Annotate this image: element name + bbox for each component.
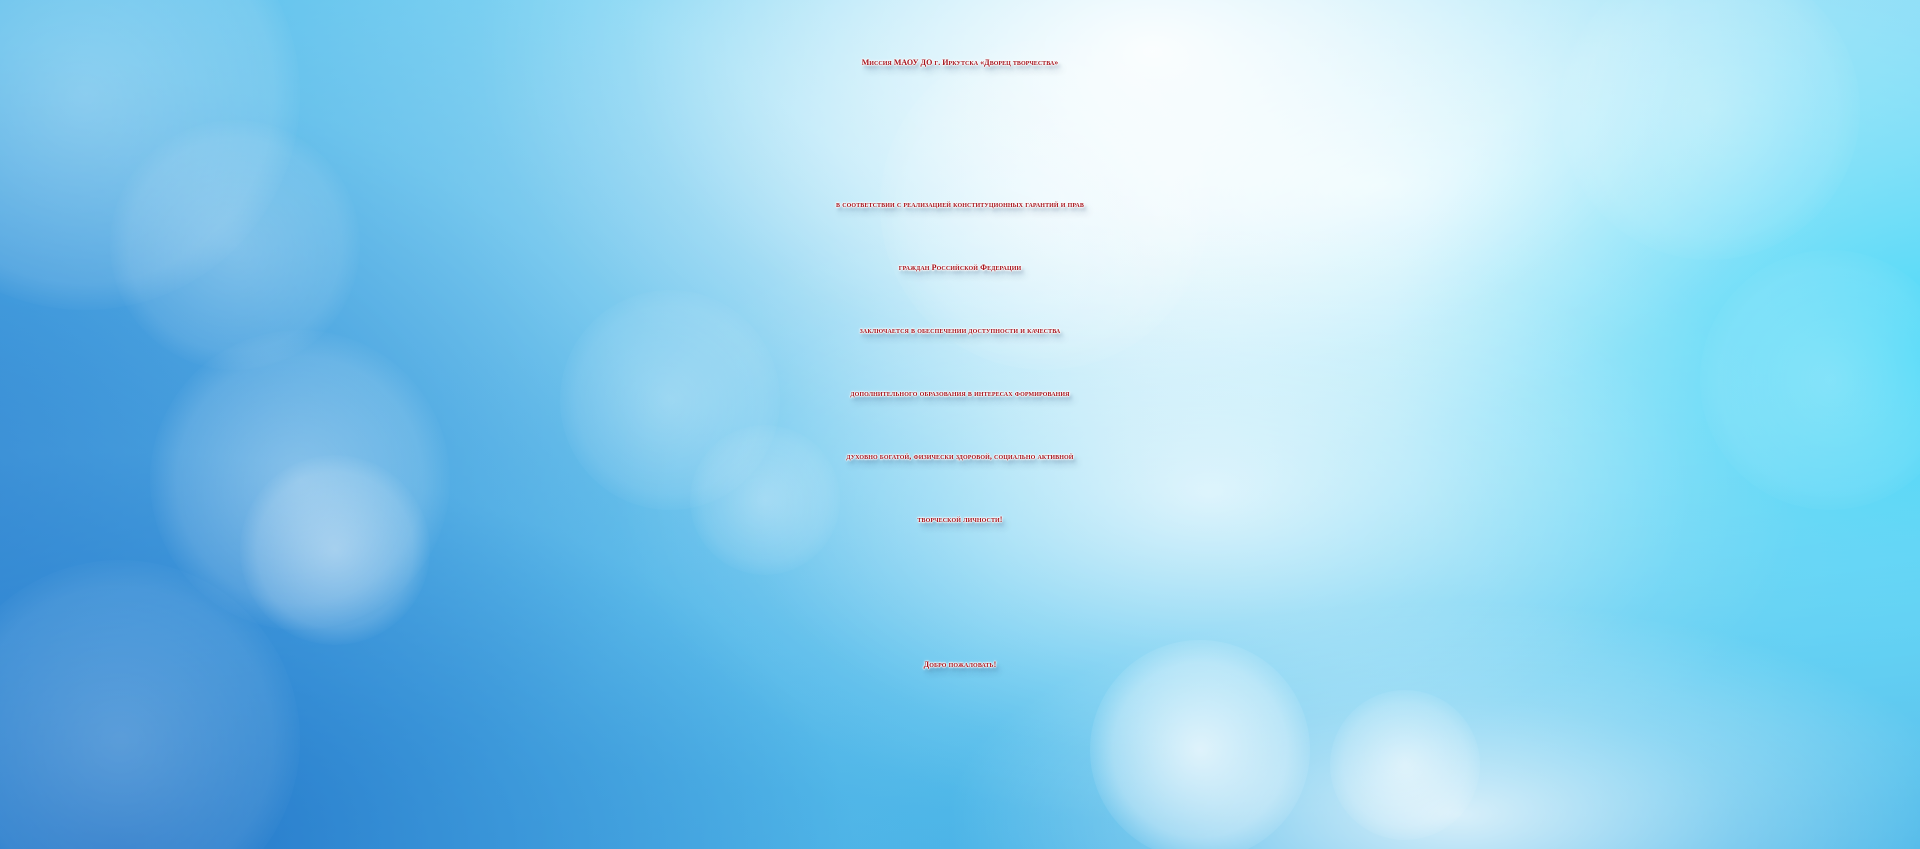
mission-body-line-2-row: граждан Российской Федерации <box>0 263 1920 272</box>
mission-body-line-2: граждан Российской Федерации <box>0 263 1920 272</box>
mission-body-line-1-row: в соответствии с реализацией конституцио… <box>0 200 1920 209</box>
mission-body-line-4: дополнительного образования в интересах … <box>0 389 1920 398</box>
mission-body-line-5: духовно богатой, физически здоровой, соц… <box>0 452 1920 461</box>
mission-body-line-5-row: духовно богатой, физически здоровой, соц… <box>0 452 1920 461</box>
mission-body-line-3-row: заключается в обеспечении доступности и … <box>0 326 1920 335</box>
mission-body-line-6-row: творческой личности! <box>0 515 1920 524</box>
banner-slide: Миссия МАОУ ДО г. Иркутска «Дворец творч… <box>0 0 1920 849</box>
mission-body-line-4-row: дополнительного образования в интересах … <box>0 389 1920 398</box>
mission-title-row: Миссия МАОУ ДО г. Иркутска «Дворец творч… <box>0 58 1920 67</box>
mission-body-line-1: в соответствии с реализацией конституцио… <box>0 200 1920 209</box>
welcome-heading-row: Добро пожаловать! <box>0 660 1920 669</box>
mission-title: Миссия МАОУ ДО г. Иркутска «Дворец творч… <box>0 58 1920 67</box>
mission-body-line-6: творческой личности! <box>0 515 1920 524</box>
mission-body-line-3: заключается в обеспечении доступности и … <box>0 326 1920 335</box>
banner-text-block: Миссия МАОУ ДО г. Иркутска «Дворец творч… <box>0 0 1920 849</box>
welcome-heading: Добро пожаловать! <box>0 660 1920 669</box>
